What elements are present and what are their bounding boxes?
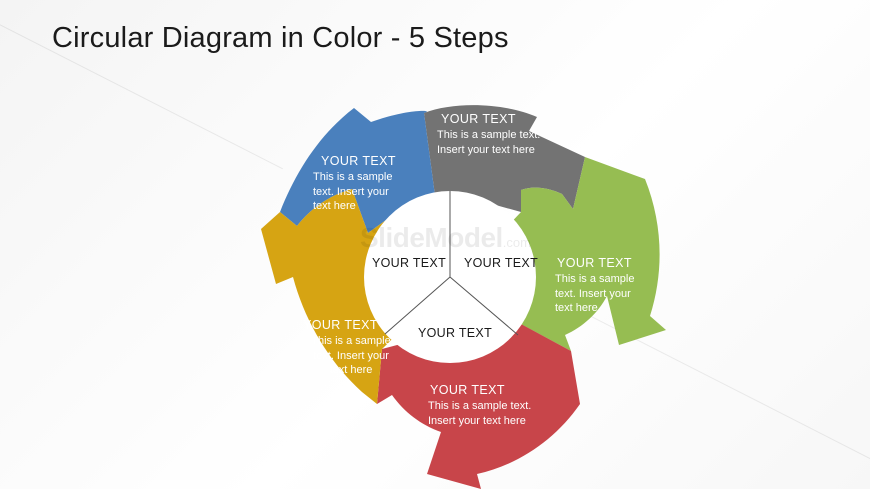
arrow-text-red[interactable]: YOUR TEXT This is a sample text. Insert … [428,383,588,428]
slide-canvas: Circular Diagram in Color - 5 Steps [0,0,870,489]
arrow-body-gold: This is a sample text. Insert your text … [301,334,401,378]
arrow-body-line: text. Insert your [301,349,401,364]
arrow-body-line: This is a sample [313,170,409,185]
arrow-heading-red: YOUR TEXT [428,383,588,397]
watermark-domain: .com [503,235,531,250]
arrow-heading-gold: YOUR TEXT [301,318,401,332]
arrow-body-line: Insert your text here [428,414,588,429]
arrow-body-line: Insert your text here [437,143,592,158]
arrow-body-red: This is a sample text. Insert your text … [428,399,588,428]
arrow-body-gray: This is a sample text. Insert your text … [437,128,592,157]
arrow-body-line: text. Insert your [313,185,409,200]
arrow-body-green: This is a sample text. Insert your text … [555,272,653,316]
arrow-body-line: text here [301,363,401,378]
arrow-text-gold[interactable]: YOUR TEXT This is a sample text. Insert … [301,318,401,378]
arrow-body-blue: This is a sample text. Insert your text … [313,170,409,214]
arrow-text-blue[interactable]: YOUR TEXT This is a sample text. Insert … [313,154,409,214]
arrow-heading-gray: YOUR TEXT [437,112,592,126]
arrow-body-line: This is a sample text. [437,128,592,143]
center-label-bottom[interactable]: YOUR TEXT [418,326,492,340]
arrow-heading-blue: YOUR TEXT [313,154,409,168]
arrow-body-line: text. Insert your [555,287,653,302]
arrow-body-line: text here [555,301,653,316]
arrow-text-gray[interactable]: YOUR TEXT This is a sample text. Insert … [437,112,592,157]
arrow-body-line: This is a sample [301,334,401,349]
arrow-body-line: This is a sample [555,272,653,287]
slidemodel-watermark: SlideModel.com [360,222,531,254]
center-label-right[interactable]: YOUR TEXT [464,256,538,270]
watermark-text: SlideModel [360,222,503,253]
arrow-body-line: text here [313,199,409,214]
arrow-body-line: This is a sample text. [428,399,588,414]
arrow-text-green[interactable]: YOUR TEXT This is a sample text. Insert … [555,256,653,316]
arrow-heading-green: YOUR TEXT [555,256,653,270]
center-label-left[interactable]: YOUR TEXT [372,256,446,270]
